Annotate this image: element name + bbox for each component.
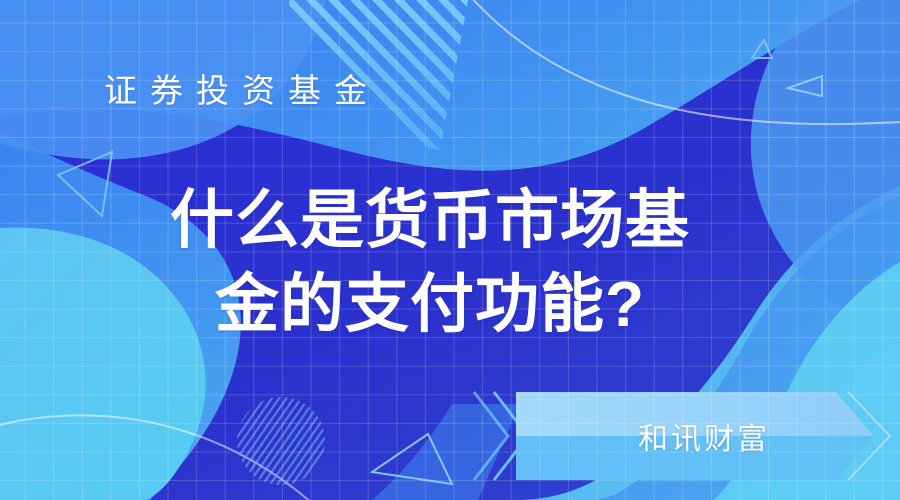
- brand-ribbon-label: 和讯财富: [470, 388, 900, 484]
- poster-canvas: 证券投资基金 什么是货币市场基 金的支付功能? 和讯财富: [0, 0, 900, 500]
- page-title: 什么是货币市场基 金的支付功能?: [0, 178, 860, 347]
- headline-line-1: 什么是货币市场基: [0, 178, 860, 262]
- brand-ribbon: 和讯财富: [470, 388, 900, 484]
- headline-line-2: 金的支付功能?: [0, 262, 860, 346]
- kicker-text: 证券投资基金: [104, 74, 380, 107]
